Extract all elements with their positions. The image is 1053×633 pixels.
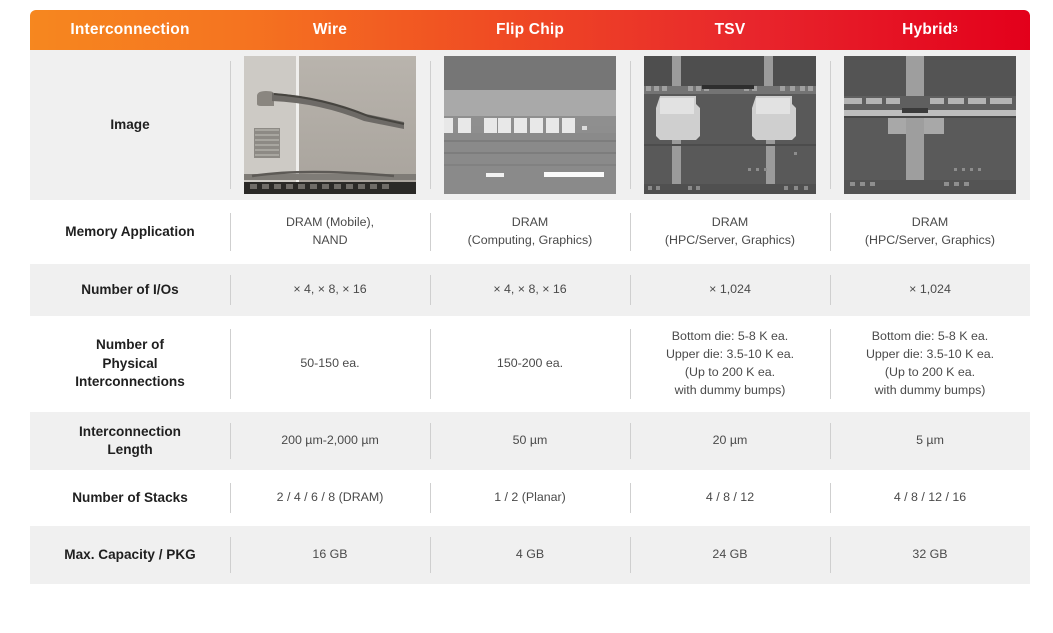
row-label-image: Image — [30, 50, 230, 200]
table-cell: 32 GB — [830, 526, 1030, 584]
row-label-max-capacity-pkg: Max. Capacity / PKG — [30, 526, 230, 584]
table-cell — [430, 50, 630, 200]
cell-text: Bottom die: 5-8 K ea.Upper die: 3.5-10 K… — [666, 328, 794, 400]
row-label-number-of-ios: Number of I/Os — [30, 264, 230, 316]
table-cell: DRAM (Mobile),NAND — [230, 202, 430, 262]
cell-text: Bottom die: 5-8 K ea.Upper die: 3.5-10 K… — [866, 328, 994, 400]
table-cell: DRAM(HPC/Server, Graphics) — [630, 202, 830, 262]
interconnection-comparison-table: Interconnection Wire Flip Chip TSV Hybri… — [30, 10, 1030, 584]
cell-text: DRAM(Computing, Graphics) — [468, 214, 593, 250]
table-cell: Bottom die: 5-8 K ea.Upper die: 3.5-10 K… — [630, 318, 830, 410]
cell-text: 50-150 ea. — [300, 355, 359, 373]
table-cell: 50 µm — [430, 412, 630, 470]
table-cell — [230, 50, 430, 200]
cell-text: 1 / 2 (Planar) — [494, 489, 566, 507]
table-cell: 50-150 ea. — [230, 318, 430, 410]
hybrid-bond-sem-image — [844, 56, 1016, 194]
column-header-label: Flip Chip — [496, 21, 564, 39]
table-cell — [630, 50, 830, 200]
flip-chip-bumps-sem-image — [444, 56, 616, 194]
cell-text: 200 µm-2,000 µm — [281, 432, 379, 450]
column-header-label: TSV — [715, 21, 746, 39]
table-row: Max. Capacity / PKG 16 GB 4 GB 24 GB 32 … — [30, 526, 1030, 584]
table-cell: × 4, × 8, × 16 — [430, 264, 630, 316]
cell-text: 50 µm — [513, 432, 548, 450]
column-header-label: Interconnection — [70, 21, 189, 39]
table-cell: 4 / 8 / 12 / 16 — [830, 472, 1030, 524]
row-label-number-of-stacks: Number of Stacks — [30, 472, 230, 524]
table-cell: × 1,024 — [630, 264, 830, 316]
cell-text: 5 µm — [916, 432, 944, 450]
row-label-text: Number ofPhysicalInterconnections — [75, 336, 185, 391]
column-header-label: Wire — [313, 21, 347, 39]
cell-text: 4 / 8 / 12 — [706, 489, 754, 507]
cell-text: 4 / 8 / 12 / 16 — [894, 489, 966, 507]
table-row: Number of I/Os × 4, × 8, × 16 × 4, × 8, … — [30, 264, 1030, 316]
wire-bond-sem-image — [244, 56, 416, 194]
table-cell: 4 / 8 / 12 — [630, 472, 830, 524]
column-header-label: Hybrid — [902, 21, 952, 39]
table-row: Number of Stacks 2 / 4 / 6 / 8 (DRAM) 1 … — [30, 472, 1030, 524]
table-cell: 150-200 ea. — [430, 318, 630, 410]
row-label-number-of-physical-interconnections: Number ofPhysicalInterconnections — [30, 318, 230, 410]
row-label-interconnection-length: InterconnectionLength — [30, 412, 230, 470]
cell-text: × 4, × 8, × 16 — [293, 281, 366, 299]
table-cell: DRAM(Computing, Graphics) — [430, 202, 630, 262]
table-cell: 5 µm — [830, 412, 1030, 470]
table-cell — [830, 50, 1030, 200]
column-header-wire: Wire — [230, 10, 430, 50]
table-cell: 2 / 4 / 6 / 8 (DRAM) — [230, 472, 430, 524]
table-cell: 4 GB — [430, 526, 630, 584]
row-label-text: InterconnectionLength — [79, 423, 181, 460]
table-row: Number ofPhysicalInterconnections 50-150… — [30, 318, 1030, 410]
table-cell: Bottom die: 5-8 K ea.Upper die: 3.5-10 K… — [830, 318, 1030, 410]
cell-text: × 1,024 — [709, 281, 751, 299]
cell-text: 16 GB — [312, 546, 347, 564]
table-cell: 20 µm — [630, 412, 830, 470]
column-header-hybrid: Hybrid3 — [830, 10, 1030, 50]
cell-text: × 1,024 — [909, 281, 951, 299]
table-cell: × 1,024 — [830, 264, 1030, 316]
column-header-flip-chip: Flip Chip — [430, 10, 630, 50]
cell-text: 24 GB — [712, 546, 747, 564]
table-cell: 16 GB — [230, 526, 430, 584]
cell-text: 150-200 ea. — [497, 355, 563, 373]
cell-text: 2 / 4 / 6 / 8 (DRAM) — [277, 489, 384, 507]
table-body: Image — [30, 50, 1030, 584]
table-cell: DRAM(HPC/Server, Graphics) — [830, 202, 1030, 262]
table-cell: × 4, × 8, × 16 — [230, 264, 430, 316]
table-cell: 24 GB — [630, 526, 830, 584]
cell-text: × 4, × 8, × 16 — [493, 281, 566, 299]
row-label-memory-application: Memory Application — [30, 202, 230, 262]
table-cell: 1 / 2 (Planar) — [430, 472, 630, 524]
cell-text: 32 GB — [912, 546, 947, 564]
cell-text: DRAM (Mobile),NAND — [286, 214, 374, 250]
table-row: Image — [30, 50, 1030, 200]
cell-text: 4 GB — [516, 546, 544, 564]
column-header-interconnection: Interconnection — [30, 10, 230, 50]
cell-text: 20 µm — [713, 432, 748, 450]
cell-text: DRAM(HPC/Server, Graphics) — [865, 214, 995, 250]
table-row: InterconnectionLength 200 µm-2,000 µm 50… — [30, 412, 1030, 470]
table-header-row: Interconnection Wire Flip Chip TSV Hybri… — [30, 10, 1030, 50]
cell-text: DRAM(HPC/Server, Graphics) — [665, 214, 795, 250]
tsv-microbump-sem-image — [644, 56, 816, 194]
table-cell: 200 µm-2,000 µm — [230, 412, 430, 470]
table-row: Memory Application DRAM (Mobile),NAND DR… — [30, 202, 1030, 262]
column-header-tsv: TSV — [630, 10, 830, 50]
